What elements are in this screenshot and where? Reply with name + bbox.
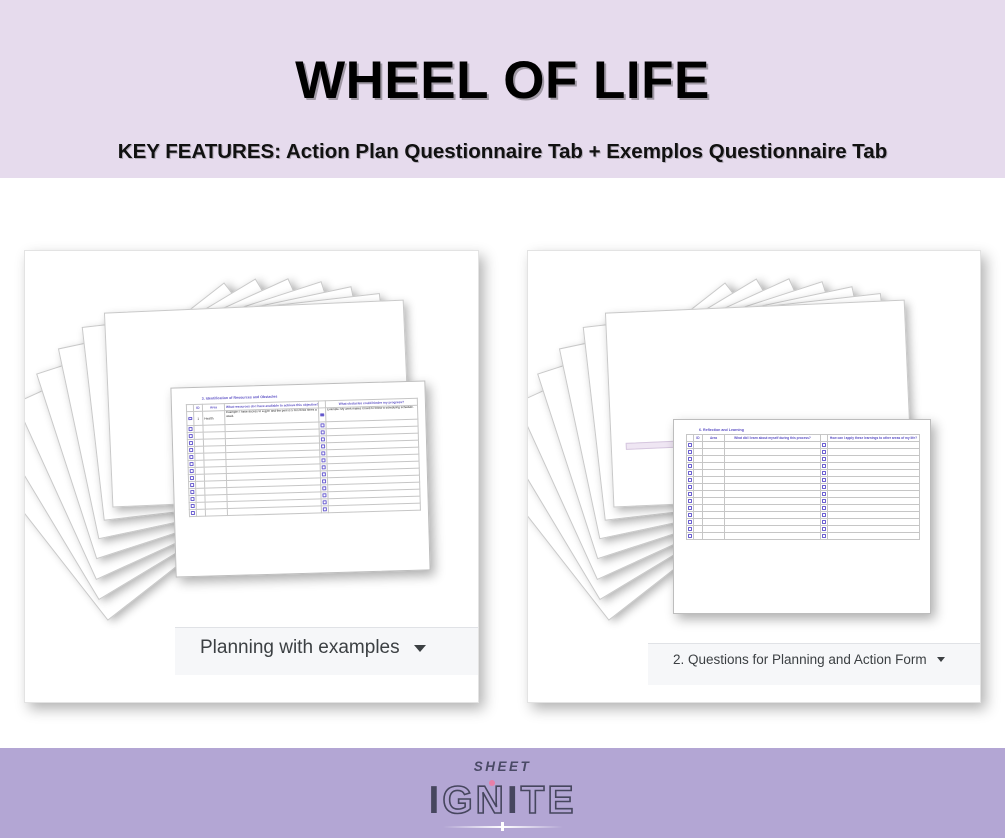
row-checkbox-cell-2[interactable] [821, 477, 828, 484]
checkbox-icon[interactable] [191, 497, 194, 500]
table-row[interactable] [687, 505, 920, 512]
checkbox-icon[interactable] [688, 464, 691, 467]
checkbox-icon[interactable] [822, 485, 825, 488]
brand-ignite-logo: IGNITE [0, 779, 1005, 823]
row-checkbox-cell[interactable] [687, 505, 694, 512]
checkbox-icon[interactable] [323, 508, 326, 511]
col-area: Area [703, 435, 725, 442]
sheet-grid-table: ID Area What resources do I have availab… [186, 398, 421, 517]
row-checkbox-cell-2[interactable] [821, 498, 828, 505]
checkbox-icon[interactable] [822, 527, 825, 530]
front-sheet-right: 6. Reflection and Learning ID Area What … [673, 419, 931, 614]
sheet-grid-table: ID Area What did I learn about myself du… [686, 434, 920, 540]
checkbox-icon[interactable] [822, 499, 825, 502]
cell-area[interactable] [703, 491, 725, 498]
table-body [687, 442, 920, 540]
cell-id[interactable] [694, 470, 703, 477]
cell-id[interactable] [694, 477, 703, 484]
cell-learning[interactable] [725, 498, 821, 505]
sheet-section-title: 3. Identification of Resources and Obsta… [202, 395, 278, 401]
checkbox-icon[interactable] [688, 457, 691, 460]
cell-learning[interactable] [725, 491, 821, 498]
row-checkbox-cell-2[interactable] [821, 470, 828, 477]
row-checkbox-cell[interactable] [687, 512, 694, 519]
cell-area[interactable] [703, 449, 725, 456]
row-checkbox-cell[interactable] [687, 498, 694, 505]
cell-learning[interactable] [725, 463, 821, 470]
row-checkbox-cell-2[interactable] [821, 456, 828, 463]
cell-id[interactable] [694, 449, 703, 456]
row-checkbox-cell[interactable] [687, 470, 694, 477]
cell-apply[interactable] [828, 477, 920, 484]
sheet-stack-right: Questions for Planning and Action Action… [528, 251, 980, 702]
checkbox-icon[interactable] [822, 450, 825, 453]
row-checkbox-cell[interactable] [687, 449, 694, 456]
checkbox-icon[interactable] [189, 434, 192, 437]
header-band: WHEEL OF LIFE KEY FEATURES: Action Plan … [0, 0, 1005, 178]
row-checkbox-cell-2[interactable] [821, 519, 828, 526]
table-row[interactable] [687, 477, 920, 484]
checkbox-icon[interactable] [322, 459, 325, 462]
brand-letters-gn: GN [442, 779, 507, 822]
cell-area[interactable] [205, 509, 227, 517]
cell-id[interactable] [694, 442, 703, 449]
cell-apply[interactable] [828, 533, 920, 540]
table-row[interactable] [687, 498, 920, 505]
checkbox-icon[interactable] [822, 457, 825, 460]
cell-area[interactable] [703, 470, 725, 477]
table-row[interactable] [687, 463, 920, 470]
cell-apply[interactable] [828, 442, 920, 449]
cell-learning[interactable] [725, 477, 821, 484]
cell-id[interactable] [694, 491, 703, 498]
checkbox-icon[interactable] [688, 534, 691, 537]
checkbox-icon[interactable] [190, 483, 193, 486]
cell-id[interactable] [694, 498, 703, 505]
checkbox-icon[interactable] [688, 492, 691, 495]
checkbox-icon[interactable] [688, 499, 691, 502]
cell-learning[interactable] [725, 456, 821, 463]
table-row[interactable] [687, 449, 920, 456]
checkbox-icon[interactable] [189, 448, 192, 451]
cell-learning[interactable] [725, 442, 821, 449]
table-row[interactable] [687, 519, 920, 526]
cell-area[interactable] [703, 442, 725, 449]
checkbox-icon[interactable] [322, 452, 325, 455]
checkbox-icon[interactable] [688, 527, 691, 530]
cell-obstacles[interactable] [328, 503, 420, 513]
cell-id[interactable] [694, 519, 703, 526]
checkbox-icon[interactable] [189, 441, 192, 444]
cell-apply[interactable] [828, 463, 920, 470]
table-row[interactable] [687, 533, 920, 540]
row-checkbox-cell-2[interactable] [821, 449, 828, 456]
row-checkbox-cell[interactable] [687, 463, 694, 470]
cell-learning[interactable] [725, 512, 821, 519]
cell-learning[interactable] [725, 470, 821, 477]
table-row[interactable] [687, 470, 920, 477]
cell-apply[interactable] [828, 512, 920, 519]
checkbox-icon[interactable] [688, 506, 691, 509]
row-checkbox-cell[interactable] [687, 456, 694, 463]
checkbox-icon[interactable] [323, 501, 326, 504]
cell-area[interactable]: Health [203, 411, 225, 426]
checkbox-icon[interactable] [322, 473, 325, 476]
cell-area[interactable] [703, 526, 725, 533]
cell-id[interactable]: 1 [194, 411, 203, 425]
col-id: ID [694, 435, 703, 442]
cell-area[interactable] [703, 484, 725, 491]
sheet-tab-selector-left[interactable]: Planning with examples [200, 637, 426, 659]
row-checkbox-cell[interactable] [687, 477, 694, 484]
cell-id[interactable] [694, 463, 703, 470]
checkbox-column-header [687, 435, 694, 442]
checkbox-icon[interactable] [822, 471, 825, 474]
cell-apply[interactable] [828, 449, 920, 456]
row-checkbox-cell-2[interactable] [821, 512, 828, 519]
checkbox-icon[interactable] [321, 438, 324, 441]
checkbox-icon[interactable] [822, 478, 825, 481]
chevron-down-icon[interactable] [937, 657, 945, 662]
checkbox-icon[interactable] [190, 469, 193, 472]
checkbox-icon[interactable] [191, 511, 194, 514]
checkbox-icon[interactable] [189, 427, 192, 430]
cell-learning[interactable] [725, 484, 821, 491]
cell-id[interactable] [694, 505, 703, 512]
cell-learning[interactable] [725, 449, 821, 456]
checkbox-icon[interactable] [323, 494, 326, 497]
checkbox-icon[interactable] [321, 431, 324, 434]
row-checkbox-cell[interactable] [687, 533, 694, 540]
checkbox-icon[interactable] [822, 492, 825, 495]
sheet-tab-selector-right[interactable]: 2. Questions for Planning and Action For… [673, 652, 945, 667]
page-title: WHEEL OF LIFE [0, 50, 1005, 111]
checkbox-icon[interactable] [322, 480, 325, 483]
checkbox-icon[interactable] [822, 513, 825, 516]
row-checkbox-cell[interactable] [687, 519, 694, 526]
table-body: 1 Health Example: I have access to a gym… [187, 405, 421, 516]
row-checkbox-cell-2[interactable] [821, 533, 828, 540]
checkbox-icon[interactable] [321, 445, 324, 448]
cell-apply[interactable] [828, 456, 920, 463]
chevron-down-icon[interactable] [414, 645, 426, 652]
sheet-tab-label: Planning with examples [200, 637, 400, 659]
row-checkbox-cell[interactable] [687, 491, 694, 498]
checkbox-icon[interactable] [688, 513, 691, 516]
footer-band: SHEET IGNITE [0, 748, 1005, 838]
front-sheet-left: 3. Identification of Resources and Obsta… [170, 380, 430, 577]
checkbox-icon[interactable] [822, 520, 825, 523]
col-learning: What did I learn about myself during thi… [725, 435, 821, 442]
cell-id[interactable] [196, 509, 205, 516]
cell-area[interactable] [703, 498, 725, 505]
cell-area[interactable] [703, 519, 725, 526]
table-row[interactable] [687, 491, 920, 498]
checkbox-icon[interactable] [688, 485, 691, 488]
checkbox-icon[interactable] [688, 450, 691, 453]
checkbox-icon[interactable] [822, 506, 825, 509]
cell-learning[interactable] [725, 526, 821, 533]
cell-apply[interactable] [828, 470, 920, 477]
checkbox-icon[interactable] [688, 478, 691, 481]
checkbox-icon[interactable] [321, 424, 324, 427]
cell-area[interactable] [703, 533, 725, 540]
checkbox-icon[interactable] [688, 520, 691, 523]
checkbox-icon[interactable] [191, 490, 194, 493]
cell-apply[interactable] [828, 484, 920, 491]
checkbox-icon[interactable] [688, 443, 691, 446]
table-row[interactable] [687, 512, 920, 519]
table-row[interactable] [687, 442, 920, 449]
cell-learning[interactable] [725, 505, 821, 512]
checkbox-icon[interactable] [189, 417, 192, 420]
row-checkbox-cell-2[interactable] [821, 491, 828, 498]
row-checkbox-cell[interactable] [687, 442, 694, 449]
row-checkbox-cell-2[interactable] [821, 463, 828, 470]
cell-id[interactable] [694, 512, 703, 519]
cell-area[interactable] [703, 477, 725, 484]
sheet-tab-label: 2. Questions for Planning and Action For… [673, 652, 927, 667]
cell-id[interactable] [694, 526, 703, 533]
cell-apply[interactable] [828, 491, 920, 498]
brand-letter-i2: I [507, 779, 521, 822]
cell-learning[interactable] [725, 533, 821, 540]
cell-area[interactable] [703, 512, 725, 519]
table-header-row: ID Area What did I learn about myself du… [687, 435, 920, 442]
table-row[interactable] [687, 456, 920, 463]
cell-id[interactable] [694, 456, 703, 463]
checkbox-icon[interactable] [190, 462, 193, 465]
checkbox-icon[interactable] [822, 534, 825, 537]
cell-apply[interactable] [828, 505, 920, 512]
row-checkbox-cell-2[interactable] [821, 526, 828, 533]
logo-underline-tick [501, 822, 504, 831]
checkbox-icon[interactable] [320, 413, 323, 416]
checkbox-icon[interactable] [322, 466, 325, 469]
cell-resources[interactable] [227, 506, 321, 516]
cell-learning[interactable] [725, 519, 821, 526]
key-features-subtitle: KEY FEATURES: Action Plan Questionnaire … [0, 140, 1005, 164]
action-plan-card[interactable]: Questions for Planning and Action Action… [24, 250, 479, 703]
checkbox-icon[interactable] [190, 455, 193, 458]
checkbox-icon[interactable] [822, 464, 825, 467]
row-checkbox-cell[interactable] [687, 526, 694, 533]
sheet-section-title: 6. Reflection and Learning [699, 428, 744, 432]
checkbox-icon[interactable] [191, 504, 194, 507]
cell-area[interactable] [703, 505, 725, 512]
main-content-area: Questions for Planning and Action Action… [0, 178, 1005, 748]
cell-area[interactable] [703, 463, 725, 470]
cell-area[interactable] [703, 456, 725, 463]
table-row[interactable] [687, 484, 920, 491]
questions-form-card[interactable]: Questions for Planning and Action Action… [527, 250, 981, 703]
col-apply: How can I apply these learnings to other… [828, 435, 920, 442]
cell-apply[interactable] [828, 526, 920, 533]
row-checkbox-cell-2[interactable] [821, 484, 828, 491]
row-checkbox-cell[interactable] [687, 484, 694, 491]
cell-id[interactable] [694, 484, 703, 491]
checkbox-icon[interactable] [688, 471, 691, 474]
brand-letters-te: TE [521, 779, 577, 822]
brand-letter-i1: I [428, 779, 442, 822]
checkbox-icon[interactable] [190, 476, 193, 479]
row-checkbox-cell-2[interactable] [821, 442, 828, 449]
checkbox-icon[interactable] [822, 443, 825, 446]
cell-id[interactable] [694, 533, 703, 540]
row-checkbox-cell-2[interactable] [821, 505, 828, 512]
table-row[interactable] [687, 526, 920, 533]
logo-accent-dot-icon [489, 780, 495, 786]
cell-apply[interactable] [828, 519, 920, 526]
brand-sheet-text: SHEET [0, 759, 1005, 774]
cell-apply[interactable] [828, 498, 920, 505]
checkbox-icon[interactable] [323, 487, 326, 490]
checkbox-column-header-2 [821, 435, 828, 442]
